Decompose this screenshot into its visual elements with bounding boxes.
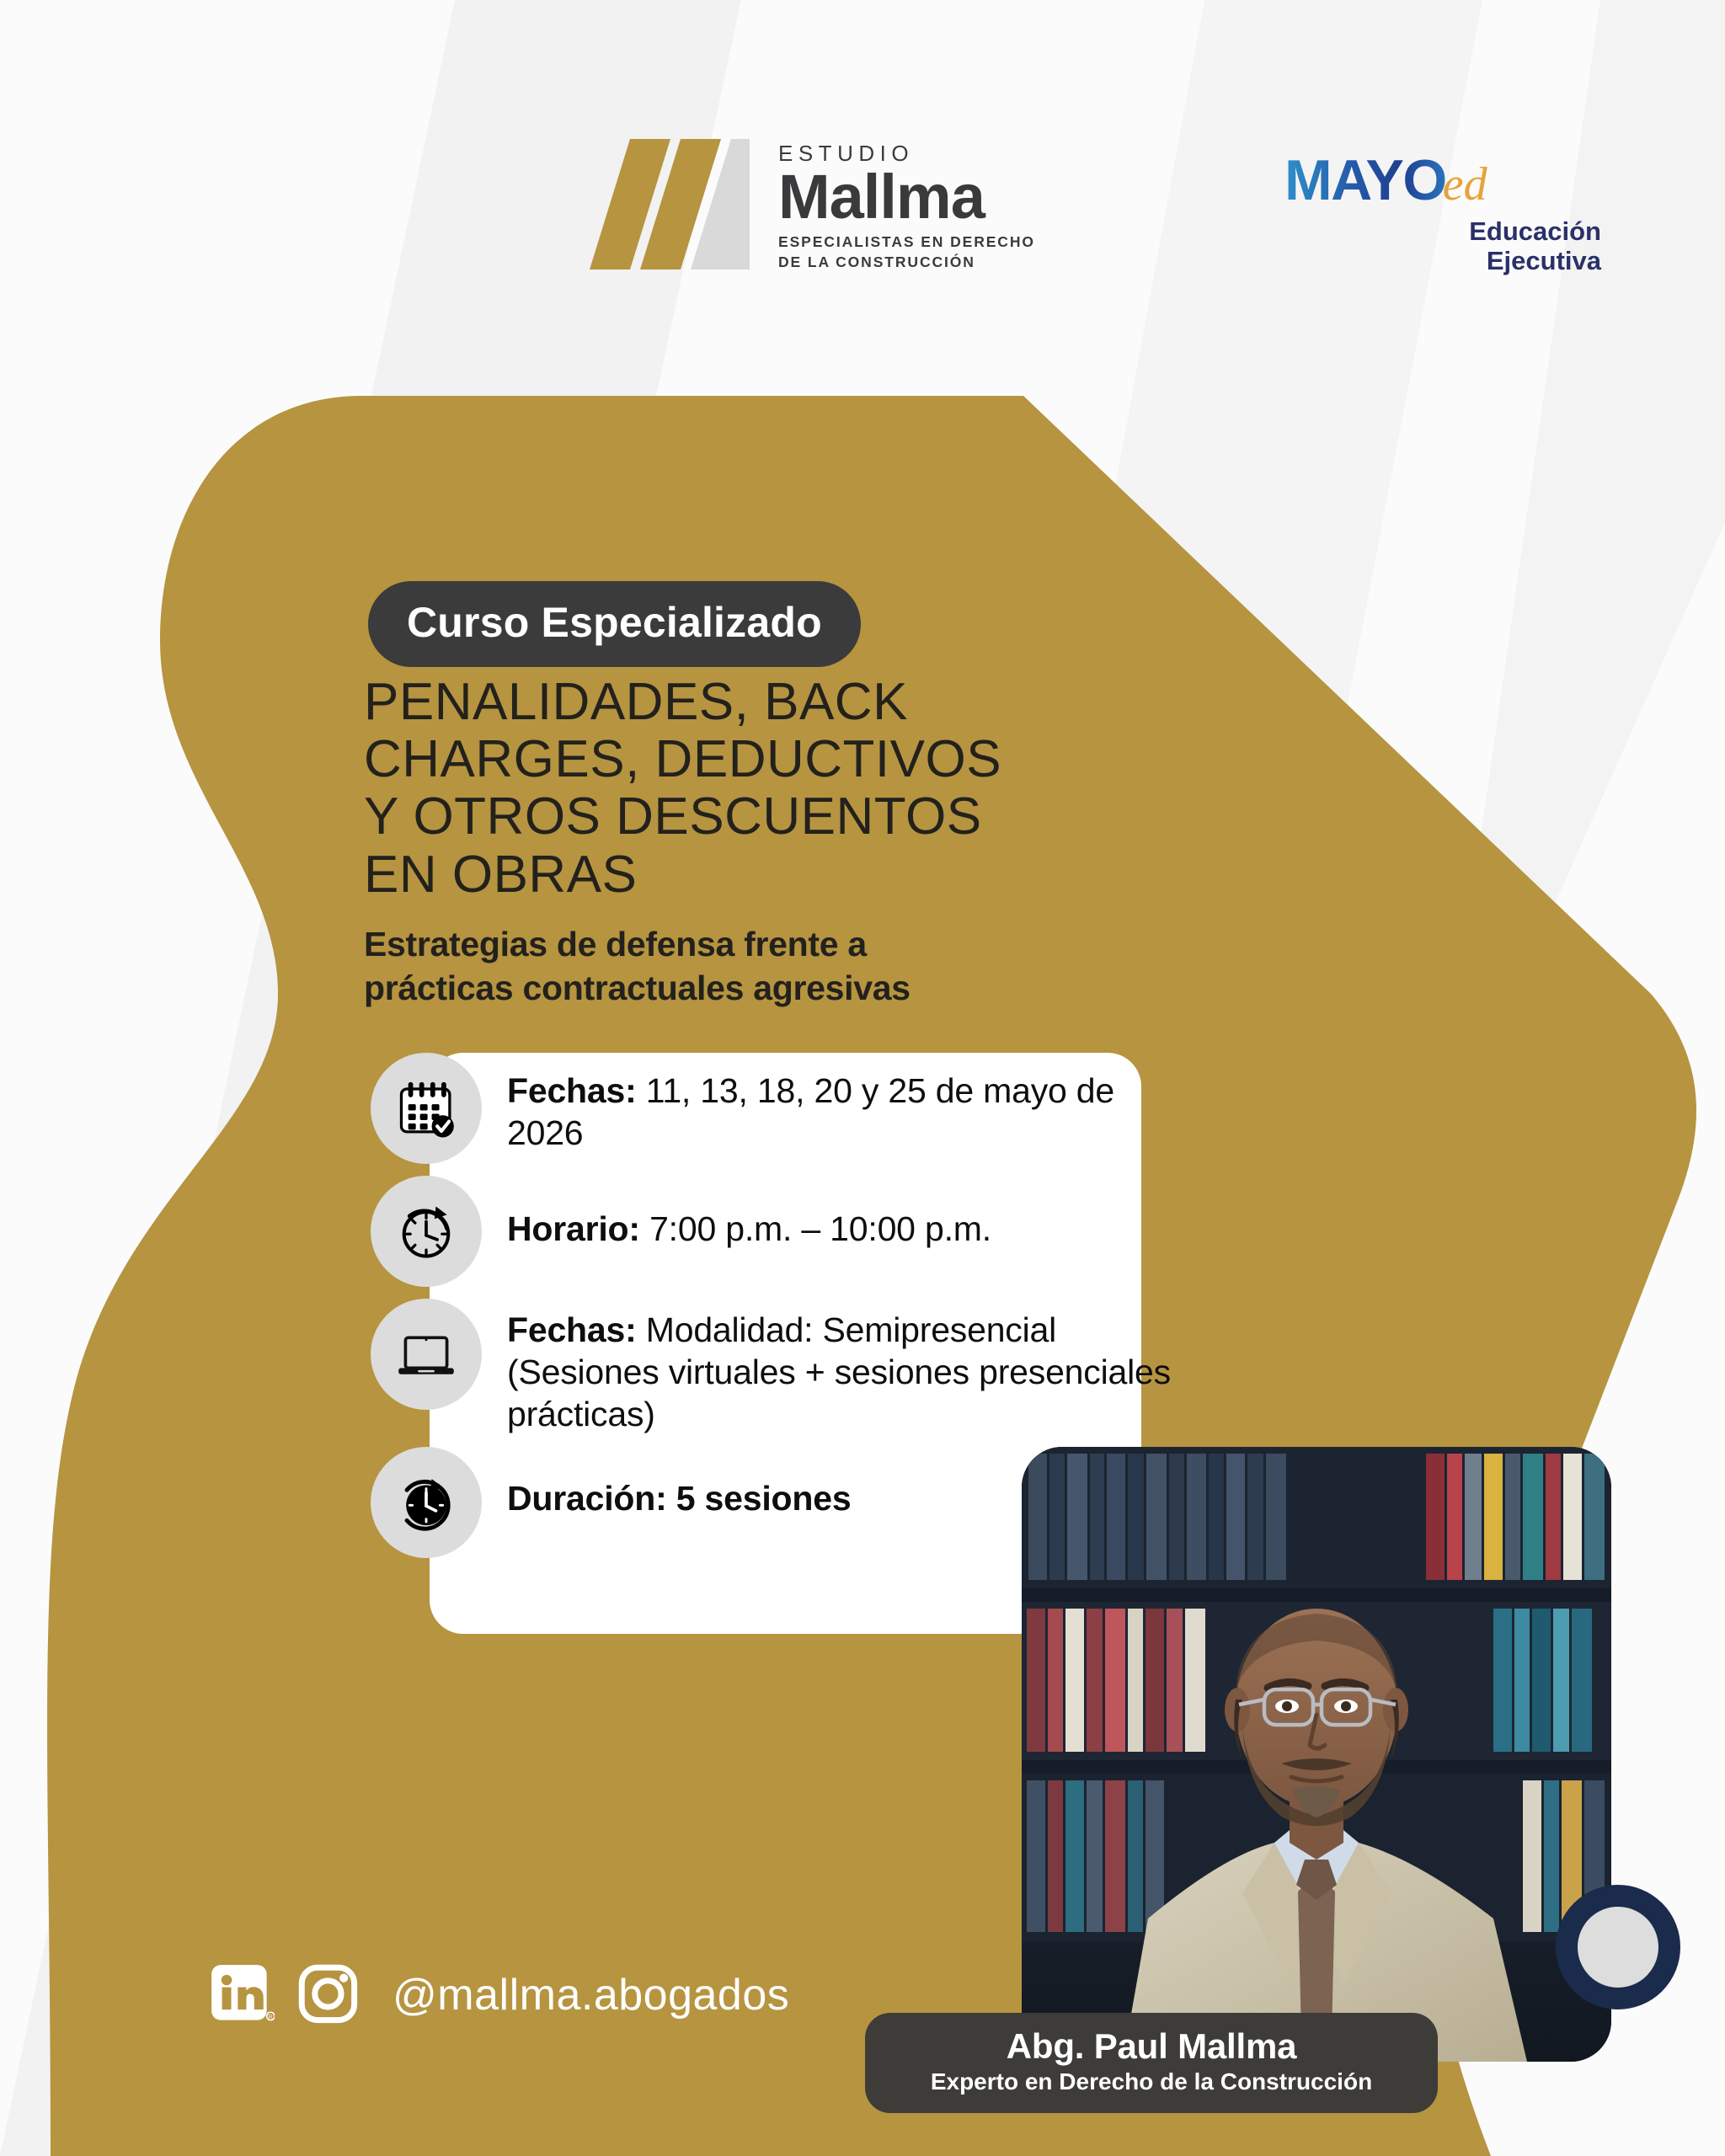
detail-text-modality: Fechas: Modalidad: Semipresencial (Sesio… (507, 1299, 1179, 1435)
course-title-line4: EN OBRAS (364, 846, 1063, 904)
speaker-name: Abg. Paul Mallma (890, 2026, 1413, 2066)
laptop-icon (371, 1299, 482, 1410)
course-flyer: ESTUDIO Mallma ESPECIALISTAS EN DERECHO … (0, 0, 1725, 2156)
mayoed-logo: MAYO ed Educación Ejecutiva (1284, 152, 1605, 275)
course-subtitle-line2: prácticas contractuales agresivas (364, 966, 1063, 1010)
navy-ring-accent (1556, 1885, 1680, 2009)
mallma-slashes-icon (590, 139, 750, 269)
social-handle: @mallma.abogados (393, 1970, 789, 2020)
detail-label-dates: Fechas: (507, 1071, 637, 1110)
header-logos: ESTUDIO Mallma ESPECIALISTAS EN DERECHO … (0, 0, 1725, 337)
course-title-line2: CHARGES, DEDUCTIVOS (364, 731, 1063, 788)
instagram-icon[interactable] (296, 1962, 362, 2028)
list-item: Horario: 7:00 p.m. – 10:00 p.m. (371, 1176, 1179, 1287)
course-title-block: PENALIDADES, BACK CHARGES, DEDUCTIVOS Y … (364, 674, 1063, 1011)
speaker-nameplate: Abg. Paul Mallma Experto en Derecho de l… (865, 2013, 1438, 2113)
detail-value-schedule: 7:00 p.m. – 10:00 p.m. (649, 1209, 991, 1248)
detail-text-schedule: Horario: 7:00 p.m. – 10:00 p.m. (507, 1176, 991, 1250)
course-subtitle: Estrategias de defensa frente a práctica… (364, 922, 1063, 1011)
status-badge: Curso Especializado (368, 581, 861, 667)
list-item: Fechas: 11, 13, 18, 20 y 25 de mayo de 2… (371, 1053, 1179, 1164)
detail-text-duration: Duración: 5 sesiones (507, 1447, 851, 1519)
detail-label-schedule: Horario: (507, 1209, 640, 1248)
linkedin-icon[interactable]: R (209, 1962, 275, 2028)
mallma-tagline-line1: ESPECIALISTAS EN DERECHO (778, 232, 1035, 252)
detail-label-modality: Fechas: (507, 1310, 637, 1349)
mayo-tagline-line1: Educación (1284, 217, 1601, 247)
clock-arrow-icon (371, 1176, 482, 1287)
mallma-tagline-line2: DE LA CONSTRUCCIÓN (778, 252, 1035, 272)
estudio-mallma-logo: ESTUDIO Mallma ESPECIALISTAS EN DERECHO … (590, 139, 1035, 273)
course-title-line1: PENALIDADES, BACK (364, 674, 1063, 731)
mallma-wordmark: Mallma (778, 168, 1035, 227)
detail-text-dates: Fechas: 11, 13, 18, 20 y 25 de mayo de 2… (507, 1053, 1179, 1154)
svg-text:R: R (269, 2015, 273, 2020)
list-item: Fechas: Modalidad: Semipresencial (Sesio… (371, 1299, 1179, 1435)
mayo-ed-suffix: ed (1443, 161, 1487, 208)
page-title: PENALIDADES, BACK CHARGES, DEDUCTIVOS Y … (364, 674, 1063, 904)
mayo-tagline-line2: Ejecutiva (1284, 247, 1601, 276)
social-links[interactable]: R @mallma.abogados (209, 1962, 789, 2028)
clock-filled-icon (371, 1447, 482, 1558)
course-title-line3: Y OTROS DESCUENTOS (364, 788, 1063, 846)
course-subtitle-line1: Estrategias de defensa frente a (364, 922, 1063, 966)
calendar-check-icon (371, 1053, 482, 1164)
mayo-wordmark: MAYO (1284, 152, 1446, 209)
detail-label-duration: Duración: 5 sesiones (507, 1479, 851, 1518)
speaker-photo (1022, 1447, 1611, 2062)
speaker-role: Experto en Derecho de la Construcción (890, 2068, 1413, 2096)
